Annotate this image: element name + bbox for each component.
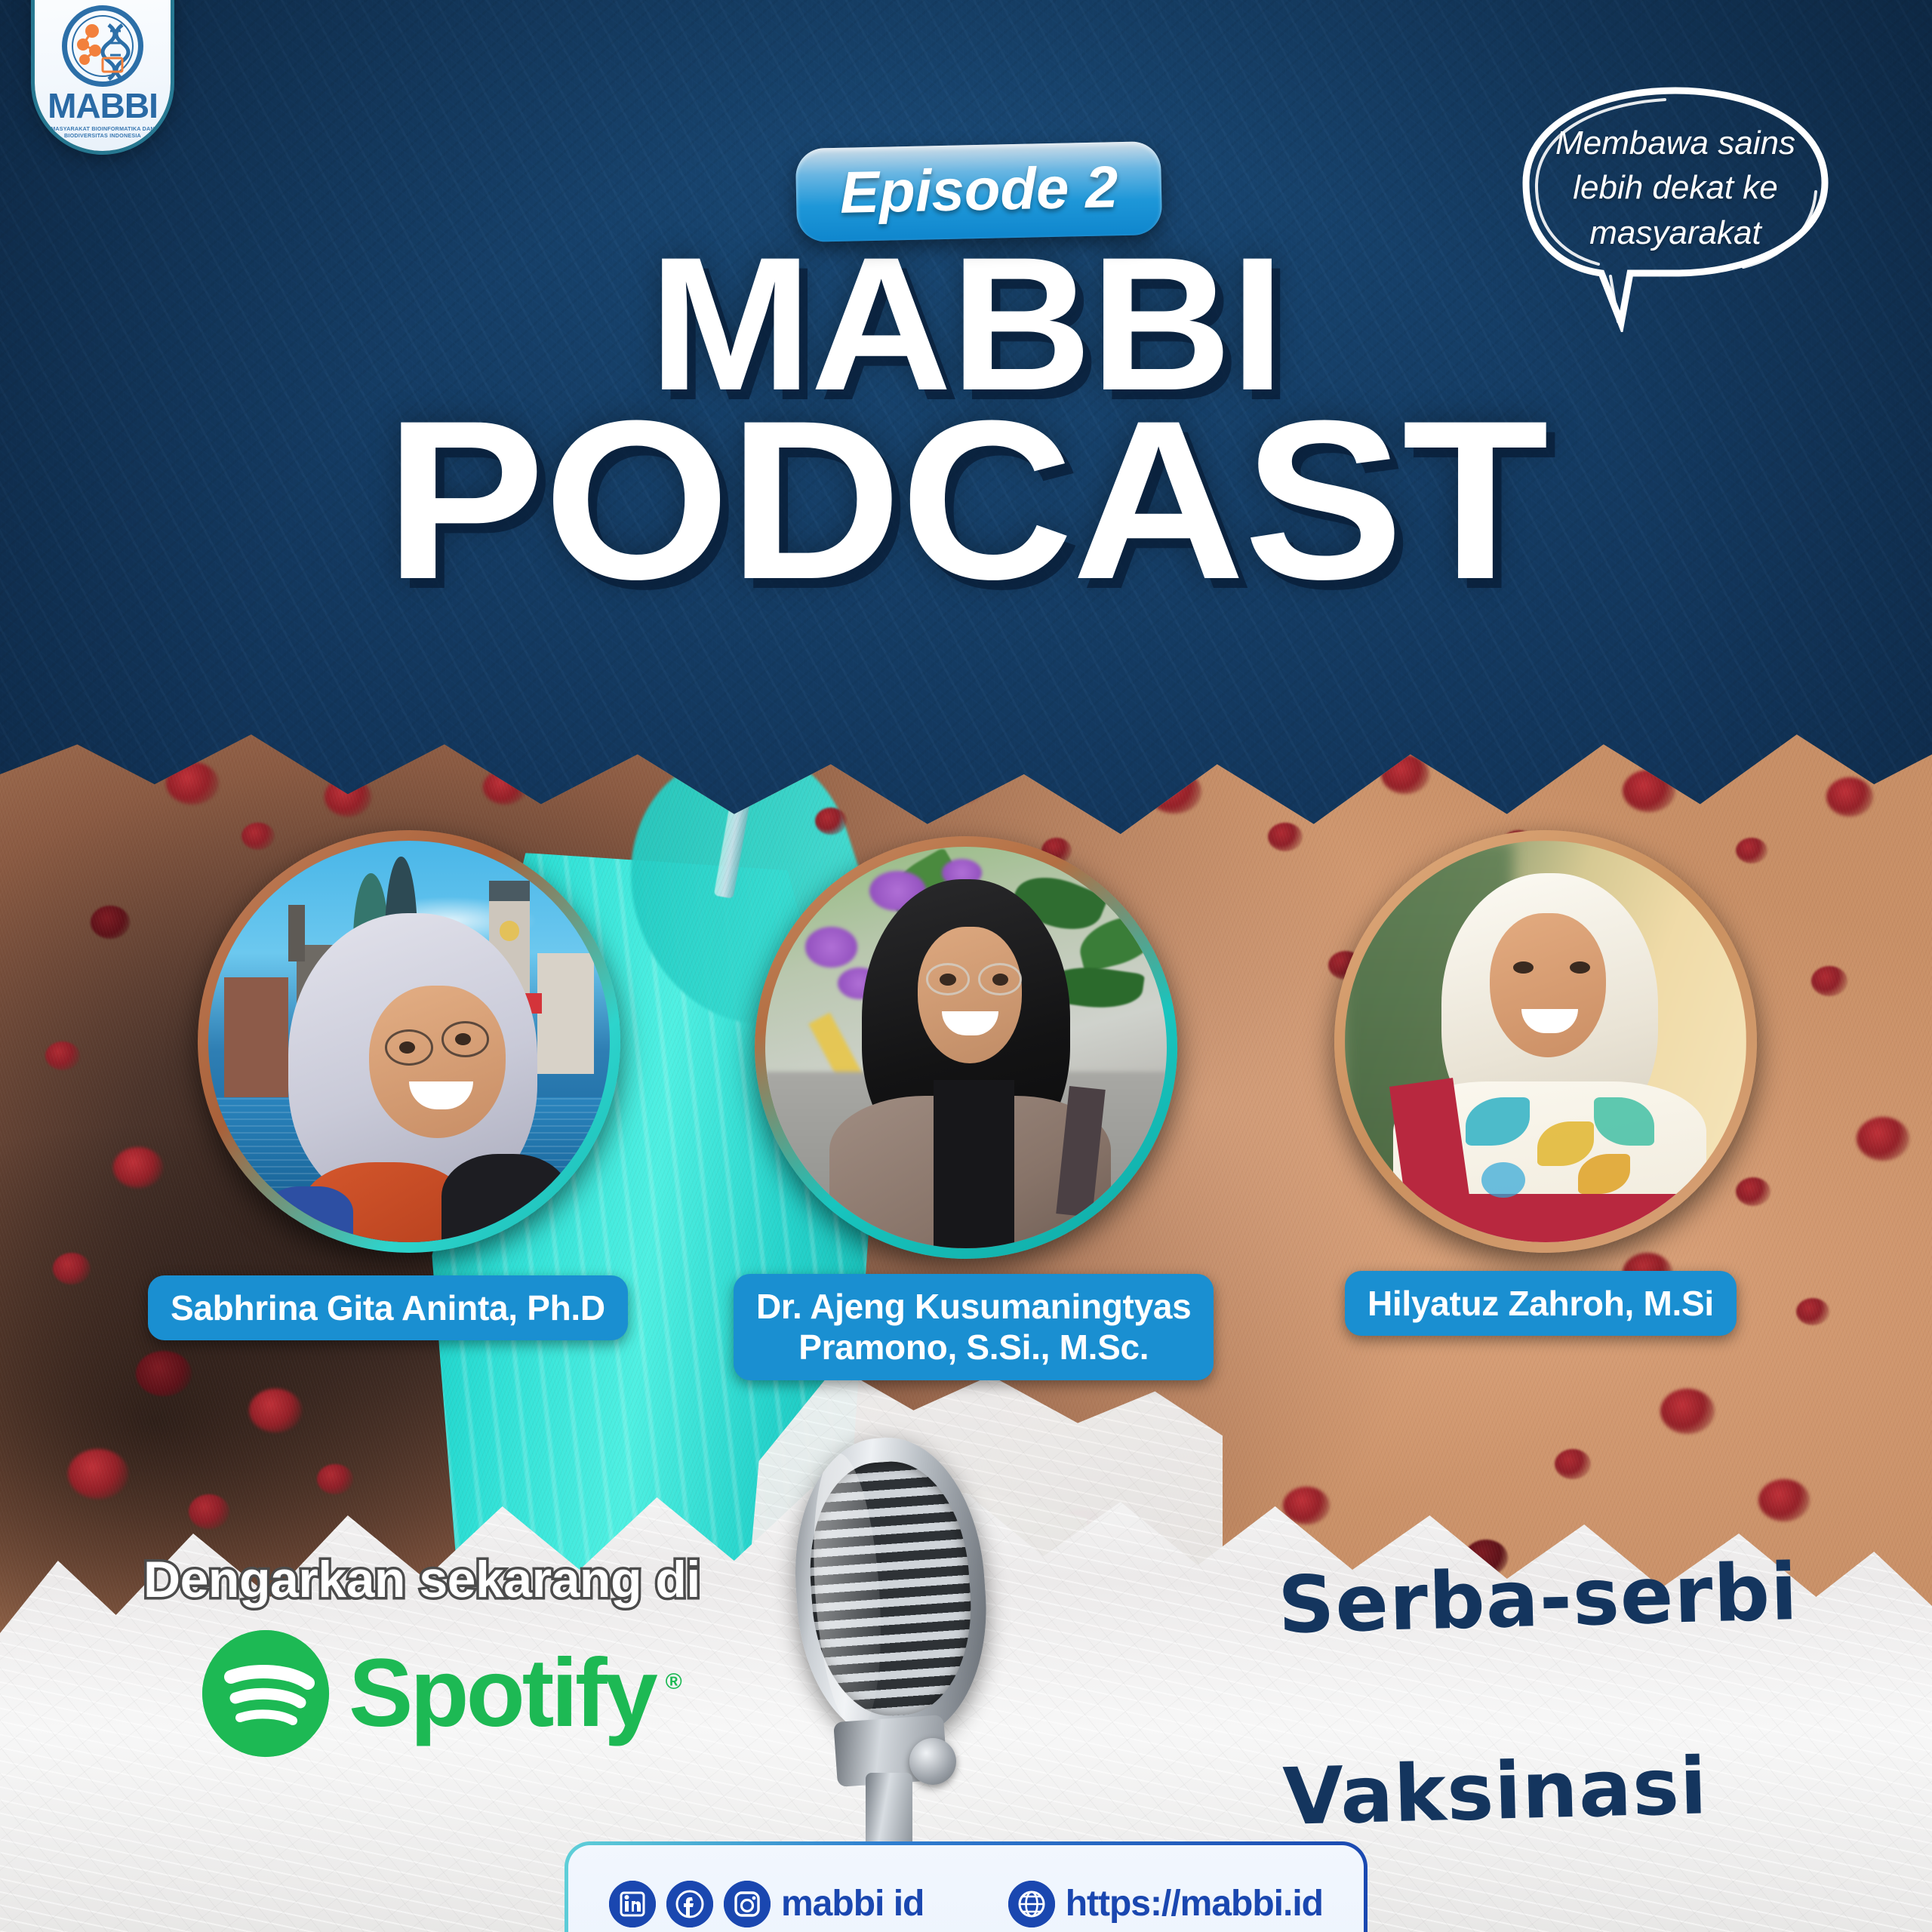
globe-icon[interactable] [1008,1881,1055,1927]
vintage-microphone [796,1438,985,1890]
spotify-cta[interactable]: Spotify ® [202,1630,655,1757]
episode-badge: Episode 2 [795,141,1163,242]
speaker-photo-1 [198,830,620,1253]
topic-line-2: Vaksinasi [1281,1736,1804,1845]
social-handle-group[interactable]: mabbi id [609,1881,924,1927]
episode-badge-label: Episode 2 [839,157,1118,222]
avatar [1345,841,1746,1242]
speaker-name-pill-1: Sabhrina Gita Aninta, Ph.D [148,1275,628,1340]
instagram-icon[interactable] [724,1881,771,1927]
topic-line-1: Serba-serbi [1277,1544,1799,1654]
footer-contact-bar: mabbi id https://mabbi.id [565,1841,1367,1932]
mabbi-logo-tab: MABBI MASYARAKAT BIOINFORMATIKA DAN BIOD… [35,0,171,151]
spotify-registered-mark: ® [666,1671,679,1694]
title-line-podcast: PODCAST [0,402,1932,597]
avatar [765,847,1167,1248]
social-handle-text: mabbi id [781,1883,924,1924]
facebook-icon[interactable] [666,1881,713,1927]
linkedin-icon[interactable] [609,1881,656,1927]
tagline-speech-bubble: Membawa sains lebih dekat ke masyarakat [1517,83,1834,332]
speaker-name-pill-2: Dr. Ajeng Kusumaningtyas Pramono, S.Si.,… [734,1274,1214,1380]
tagline-line-1: Membawa sains [1540,121,1811,165]
logo-subtitle: MASYARAKAT BIOINFORMATIKA DAN BIODIVERSI… [46,125,159,139]
avatar [208,841,610,1242]
mabbi-dna-network-logo [62,5,143,87]
spotify-icon[interactable] [202,1630,329,1757]
tagline-line-2: lebih dekat ke [1540,165,1811,210]
speaker-photo-2 [755,836,1177,1259]
spotify-wordmark: Spotify ® [349,1645,655,1742]
podcast-poster: MABBI MASYARAKAT BIOINFORMATIKA DAN BIOD… [0,0,1932,1932]
logo-wordmark: MABBI [48,90,158,123]
spotify-label: Spotify [349,1639,655,1747]
speaker-photo-3 [1334,830,1757,1253]
tagline-text: Membawa sains lebih dekat ke masyarakat [1540,121,1811,255]
speaker-portraits [0,823,1932,1291]
tagline-line-3: masyarakat [1540,211,1811,255]
speaker-name-pill-3: Hilyatuz Zahroh, M.Si [1345,1271,1737,1336]
website-url-text: https://mabbi.id [1066,1883,1323,1924]
listen-prompt: Dengarkan sekarang di [143,1550,700,1609]
website-group[interactable]: https://mabbi.id [1008,1881,1323,1927]
